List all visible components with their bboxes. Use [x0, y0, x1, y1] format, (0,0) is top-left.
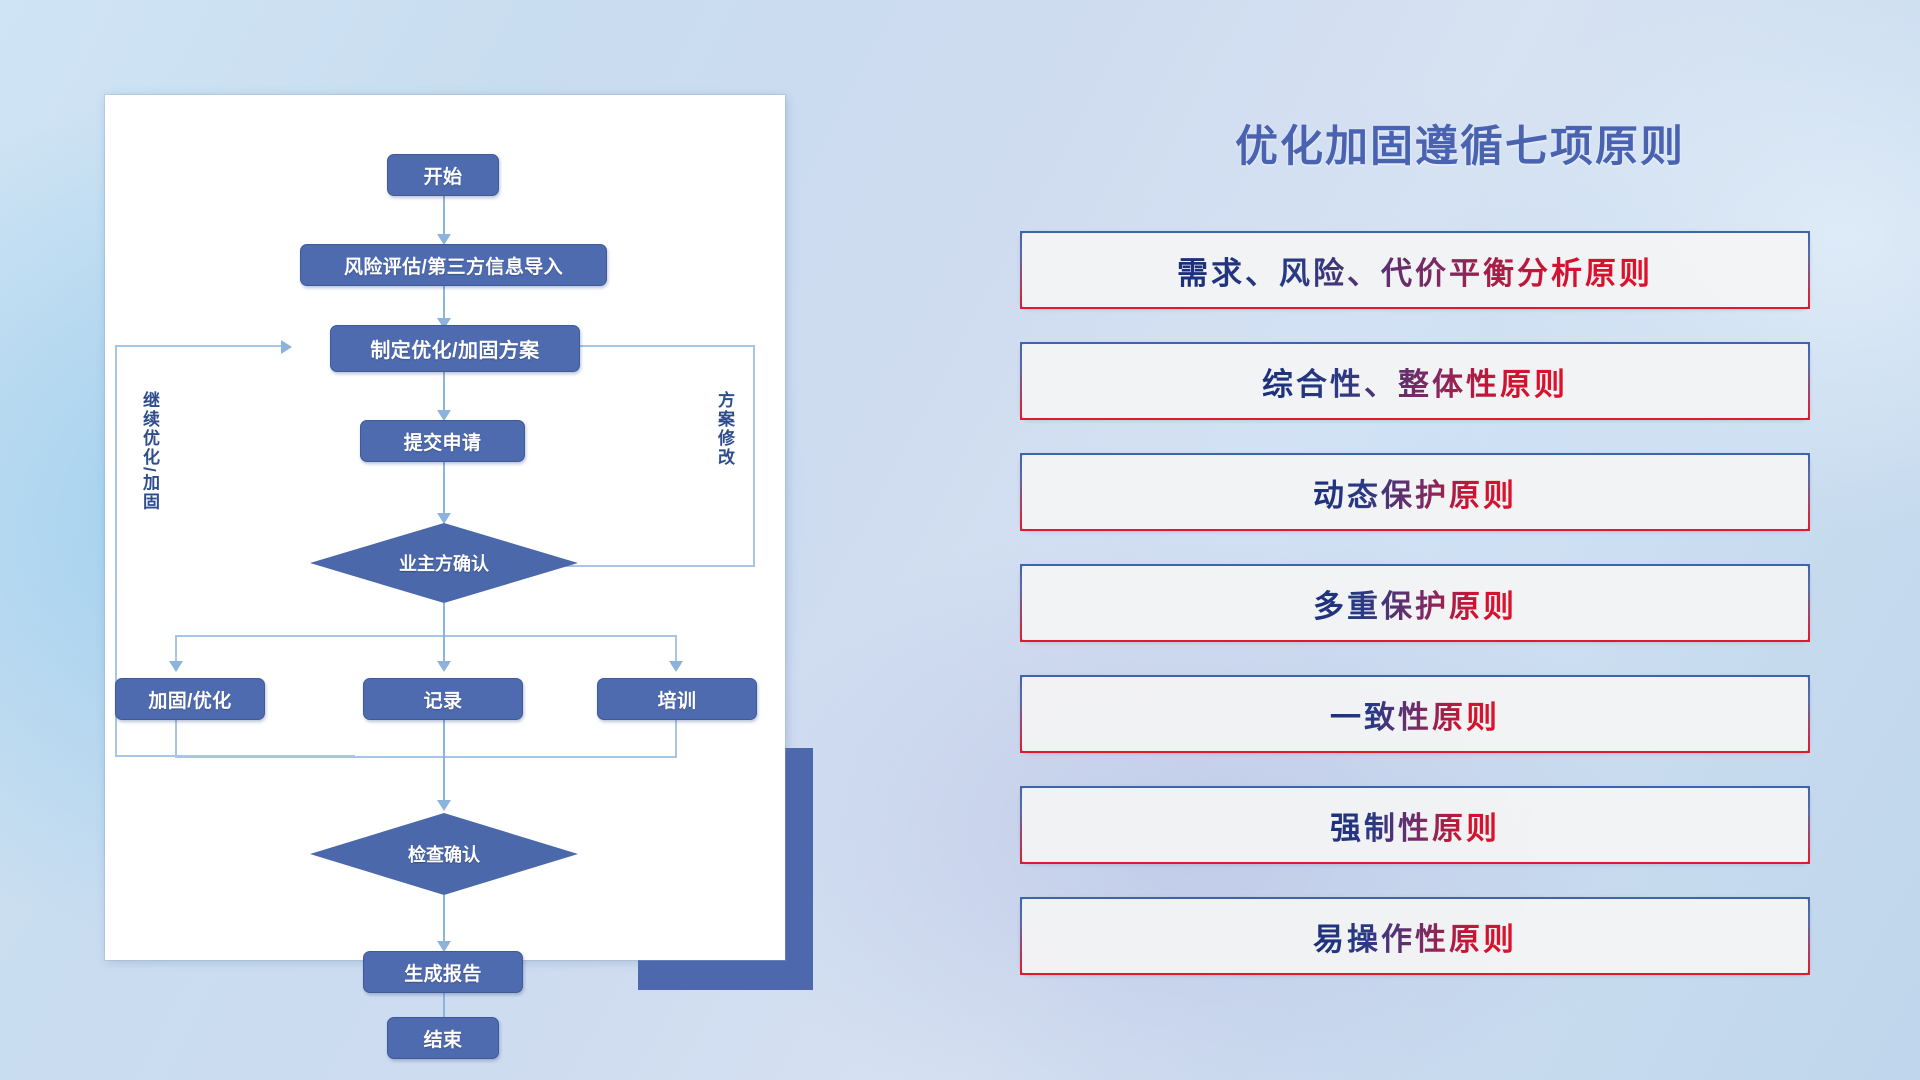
flow-node-end[interactable]: 结束	[387, 1017, 499, 1059]
principles-list: 需求、风险、代价平衡分析原则 综合性、整体性原则 动态保护原则 多重保护原则 一…	[1020, 231, 1900, 1008]
principle-item[interactable]: 易操作性原则	[1020, 897, 1810, 975]
flowchart-card: 开始 风险评估/第三方信息导入 制定优化/加固方案 提交申请 业主方确认 加固/…	[105, 95, 785, 960]
principle-item[interactable]: 综合性、整体性原则	[1020, 342, 1810, 420]
arrowhead-left-loop-to-plan	[281, 340, 292, 354]
connector-owner-down	[443, 603, 445, 637]
flow-node-make-plan-label: 制定优化/加固方案	[370, 334, 539, 363]
edge-label-continue-optimize: 继续优化/加固	[137, 391, 162, 512]
page-title: 优化加固遵循七项原则	[1020, 112, 1900, 174]
connector-plan-to-submit	[443, 372, 445, 413]
arrowhead-to-record	[437, 661, 451, 672]
flowchart: 开始 风险评估/第三方信息导入 制定优化/加固方案 提交申请 业主方确认 加固/…	[105, 95, 785, 960]
arrowhead-to-check-confirm	[437, 800, 451, 811]
connector-fanout-horizontal	[175, 635, 677, 637]
connector-merge-center	[443, 720, 445, 804]
flow-node-submit-application[interactable]: 提交申请	[360, 420, 525, 462]
connector-risk-to-plan	[443, 286, 445, 321]
flow-node-training-label: 培训	[658, 686, 697, 713]
slide-canvas: 开始 风险评估/第三方信息导入 制定优化/加固方案 提交申请 业主方确认 加固/…	[0, 0, 1920, 1080]
connector-right-loop-vertical	[753, 345, 755, 567]
arrowhead-to-training	[669, 661, 683, 672]
flow-node-record[interactable]: 记录	[363, 678, 523, 720]
flow-node-risk-assessment-label: 风险评估/第三方信息导入	[344, 252, 563, 279]
flow-node-make-plan[interactable]: 制定优化/加固方案	[330, 325, 580, 372]
principles-pane: 优化加固遵循七项原则 需求、风险、代价平衡分析原则 综合性、整体性原则 动态保护…	[1020, 0, 1900, 1080]
principle-item[interactable]: 多重保护原则	[1020, 564, 1810, 642]
principle-label: 强制性原则	[1330, 803, 1500, 848]
principle-label: 需求、风险、代价平衡分析原则	[1177, 248, 1653, 293]
principle-label: 多重保护原则	[1313, 581, 1517, 626]
flow-node-submit-application-label: 提交申请	[404, 428, 482, 455]
connector-training-down	[675, 720, 677, 758]
principle-item[interactable]: 强制性原则	[1020, 786, 1810, 864]
connector-check-to-report	[443, 895, 445, 945]
flow-node-generate-report-label: 生成报告	[404, 959, 482, 986]
principle-item[interactable]: 动态保护原则	[1020, 453, 1810, 531]
flow-node-reinforce-optimize[interactable]: 加固/优化	[115, 678, 265, 720]
flow-node-generate-report[interactable]: 生成报告	[363, 951, 523, 993]
flow-node-record-label: 记录	[424, 686, 463, 713]
flow-node-end-label: 结束	[424, 1025, 463, 1052]
flow-node-reinforce-optimize-label: 加固/优化	[148, 686, 231, 713]
principle-label: 一致性原则	[1330, 692, 1500, 737]
flow-decision-check-confirm-label: 检查确认	[310, 813, 578, 895]
connector-merge-horizontal	[175, 756, 677, 758]
flow-node-risk-assessment[interactable]: 风险评估/第三方信息导入	[300, 244, 607, 286]
flow-node-training[interactable]: 培训	[597, 678, 757, 720]
principle-label: 易操作性原则	[1313, 914, 1517, 959]
arrowhead-to-reinforce	[169, 661, 183, 672]
connector-submit-to-owner	[443, 462, 445, 515]
principle-label: 动态保护原则	[1313, 470, 1517, 515]
connector-reinforce-down	[175, 720, 177, 758]
flow-decision-owner-confirm-label: 业主方确认	[310, 523, 578, 603]
principle-label: 综合性、整体性原则	[1262, 359, 1568, 404]
principle-item[interactable]: 一致性原则	[1020, 675, 1810, 753]
flow-decision-owner-confirm[interactable]: 业主方确认	[310, 523, 578, 603]
flow-decision-check-confirm[interactable]: 检查确认	[310, 813, 578, 895]
flow-node-start-label: 开始	[424, 162, 463, 189]
connector-start-to-risk	[443, 196, 445, 236]
principle-item[interactable]: 需求、风险、代价平衡分析原则	[1020, 231, 1810, 309]
edge-label-plan-revision: 方案修改	[712, 391, 737, 467]
flow-node-start[interactable]: 开始	[387, 154, 499, 196]
connector-left-loop-top	[115, 345, 283, 347]
